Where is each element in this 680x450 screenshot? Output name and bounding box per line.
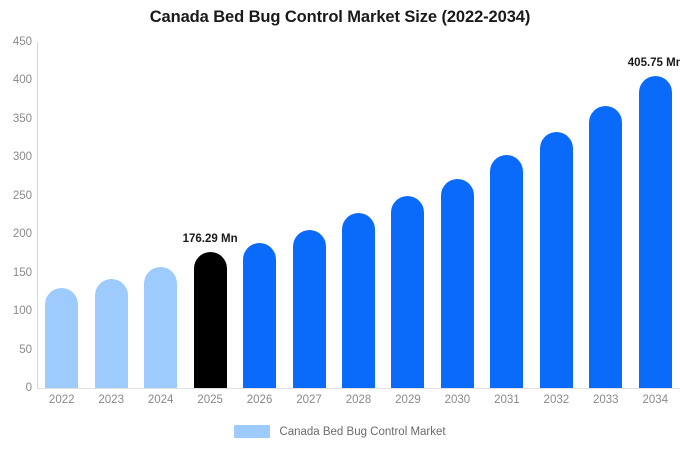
x-axis-labels: 2022202320242025202620272028202920302031… — [37, 394, 680, 412]
y-axis-tick-label: 0 — [0, 382, 32, 394]
bar-2027[interactable] — [293, 230, 326, 388]
bar-2032[interactable] — [540, 132, 573, 388]
x-axis-tick-label: 2024 — [148, 394, 174, 406]
chart-title: Canada Bed Bug Control Market Size (2022… — [0, 8, 680, 27]
bar-2025[interactable] — [194, 252, 227, 388]
y-axis-tick-label: 50 — [0, 344, 32, 356]
y-axis-tick-label: 200 — [0, 228, 32, 240]
x-axis-tick-label: 2032 — [544, 394, 570, 406]
legend-label: Canada Bed Bug Control Market — [279, 426, 445, 438]
x-axis-tick-label: 2030 — [445, 394, 471, 406]
x-axis-tick-label: 2022 — [49, 394, 75, 406]
chart-legend: Canada Bed Bug Control Market — [0, 425, 680, 438]
bar-2034[interactable] — [639, 76, 672, 388]
y-axis-tick-label: 450 — [0, 36, 32, 48]
bar-2024[interactable] — [144, 267, 177, 388]
x-axis-tick-label: 2031 — [494, 394, 520, 406]
y-axis-tick-label: 350 — [0, 113, 32, 125]
y-axis-tick-label: 150 — [0, 267, 32, 279]
bar-chart: Canada Bed Bug Control Market Size (2022… — [0, 0, 680, 450]
value-label-2034: 405.75 Mn — [628, 57, 680, 69]
x-axis-tick-label: 2027 — [296, 394, 322, 406]
x-axis-tick-label: 2023 — [98, 394, 124, 406]
bar-2029[interactable] — [391, 196, 424, 388]
bar-2022[interactable] — [45, 288, 78, 388]
bars-layer — [37, 42, 680, 388]
y-axis-tick-label: 400 — [0, 74, 32, 86]
y-axis-tick-label: 100 — [0, 305, 32, 317]
bar-2031[interactable] — [490, 155, 523, 388]
y-axis-tick-label: 300 — [0, 151, 32, 163]
x-axis-tick-label: 2029 — [395, 394, 421, 406]
bar-2030[interactable] — [441, 179, 474, 388]
value-label-2025: 176.29 Mn — [183, 233, 238, 245]
bar-2023[interactable] — [95, 279, 128, 388]
y-axis-tick-label: 250 — [0, 190, 32, 202]
x-axis-tick-label: 2026 — [247, 394, 273, 406]
bar-2026[interactable] — [243, 243, 276, 388]
bar-2028[interactable] — [342, 213, 375, 388]
plot-area — [37, 42, 680, 388]
legend-item[interactable]: Canada Bed Bug Control Market — [234, 425, 445, 438]
legend-swatch-icon — [234, 425, 270, 438]
x-axis-tick-label: 2028 — [346, 394, 372, 406]
y-axis-labels: 050100150200250300350400450 — [0, 42, 32, 388]
x-axis-tick-label: 2034 — [642, 394, 668, 406]
x-axis-line — [37, 388, 680, 389]
bar-2033[interactable] — [589, 106, 622, 388]
x-axis-tick-label: 2025 — [197, 394, 223, 406]
x-axis-tick-label: 2033 — [593, 394, 619, 406]
